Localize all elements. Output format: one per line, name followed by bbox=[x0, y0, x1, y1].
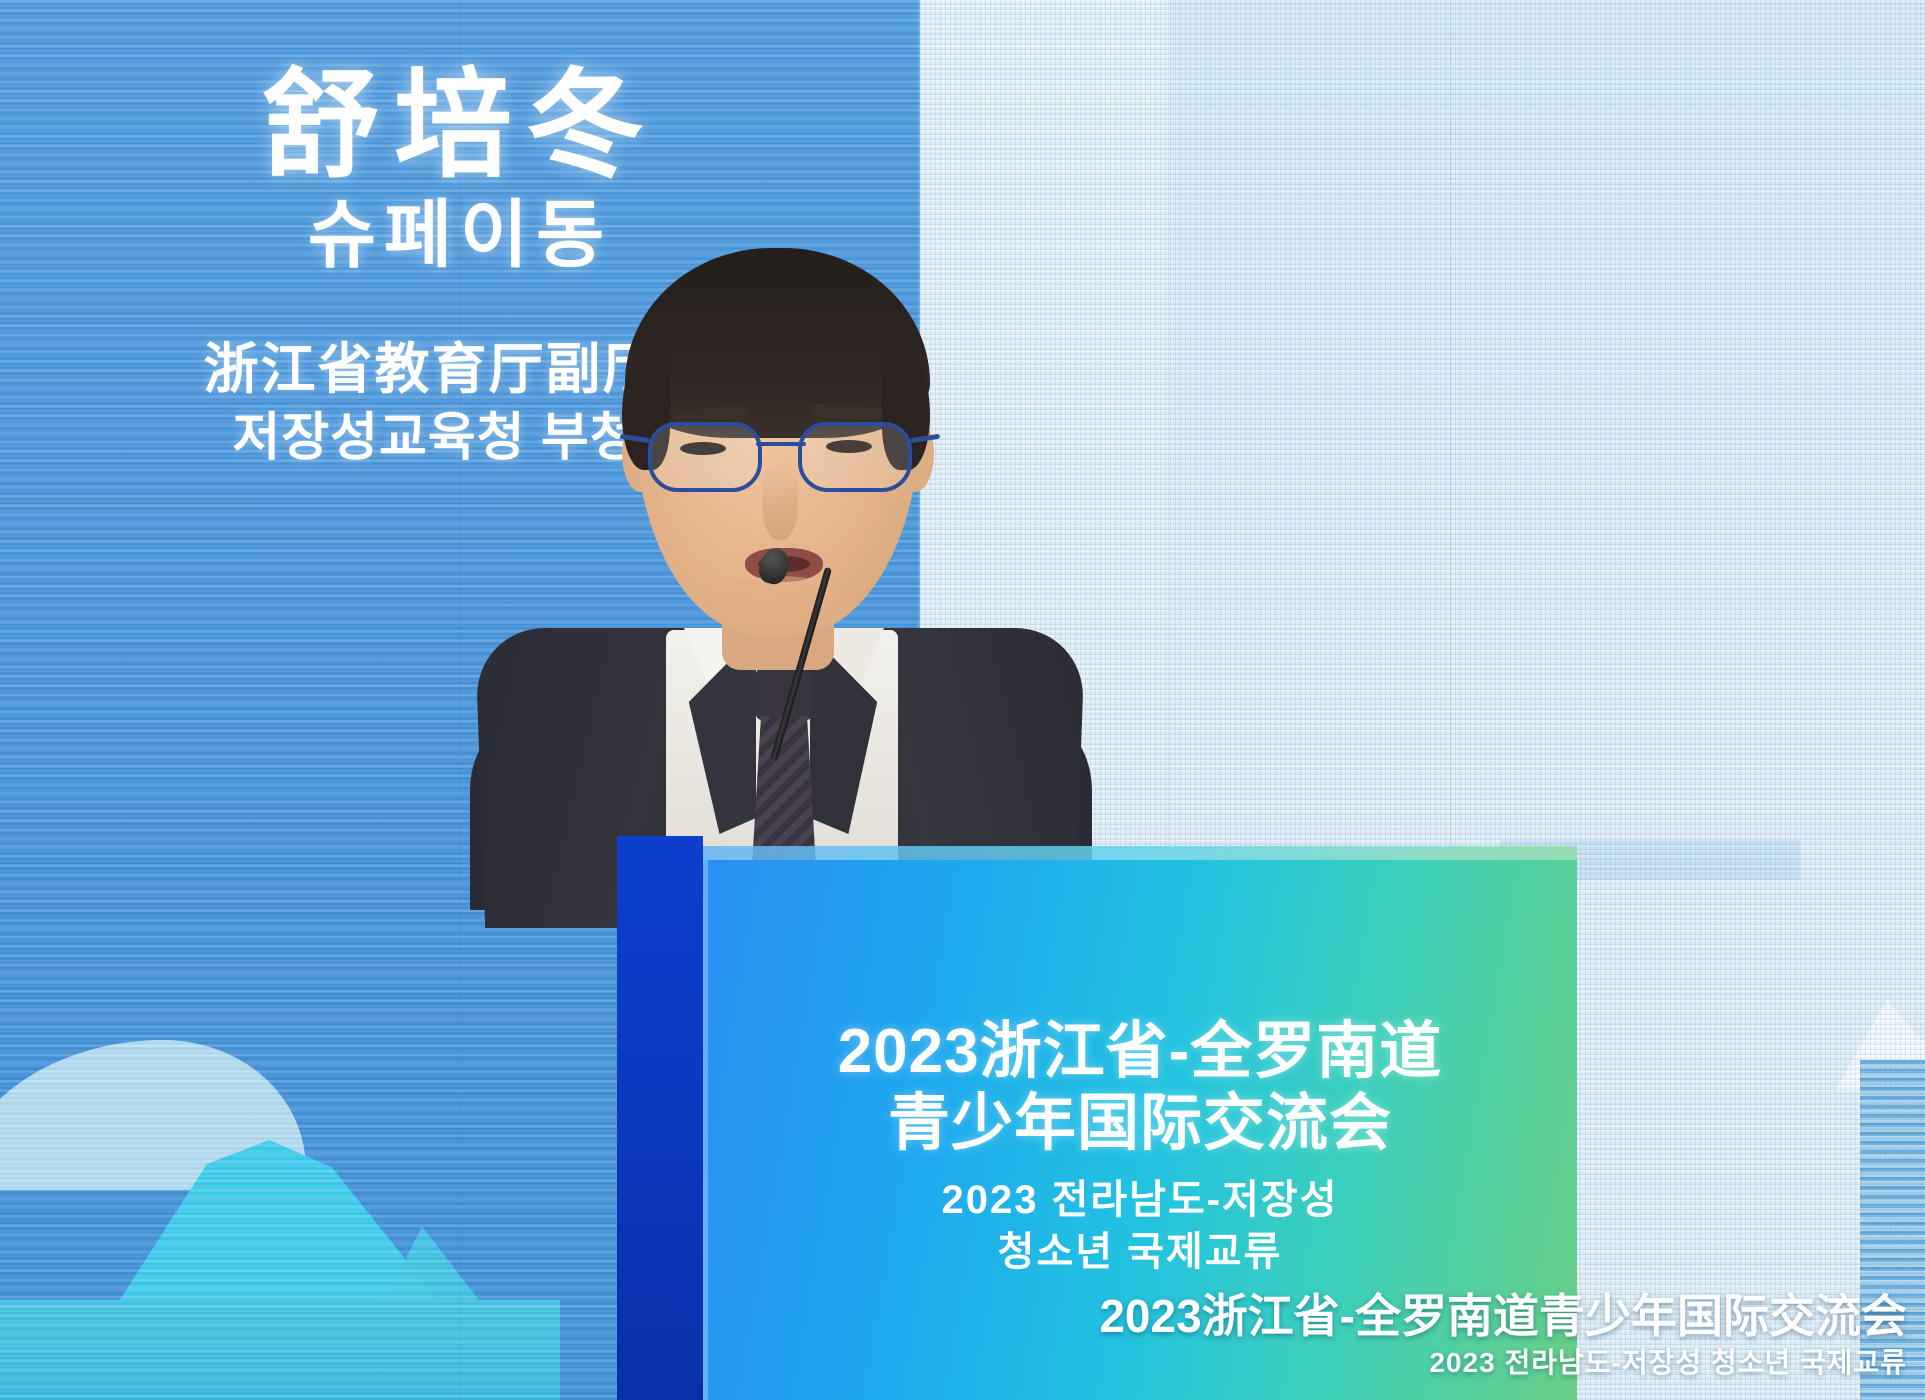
podium-left-highlight bbox=[703, 860, 708, 1400]
screenshot-stage: 舒培冬 슈페이동 浙江省教育厅副厅长 저장성교육청 부청장 bbox=[0, 0, 1925, 1400]
podium-side-panel bbox=[617, 836, 703, 1400]
podium-front-panel bbox=[703, 860, 1577, 1400]
nose bbox=[762, 462, 798, 540]
podium: 2023浙江省-全罗南道 青少年国际交流会 2023 전라남도-저장성 청소년 … bbox=[617, 836, 1577, 1400]
backdrop-right-striped-block bbox=[1860, 1060, 1925, 1400]
lens-right bbox=[798, 422, 912, 492]
led-seam bbox=[460, 0, 461, 1400]
lens-left bbox=[648, 422, 762, 492]
glasses-bridge bbox=[756, 442, 806, 446]
speaker-figure bbox=[470, 230, 1090, 870]
chin bbox=[710, 576, 850, 632]
